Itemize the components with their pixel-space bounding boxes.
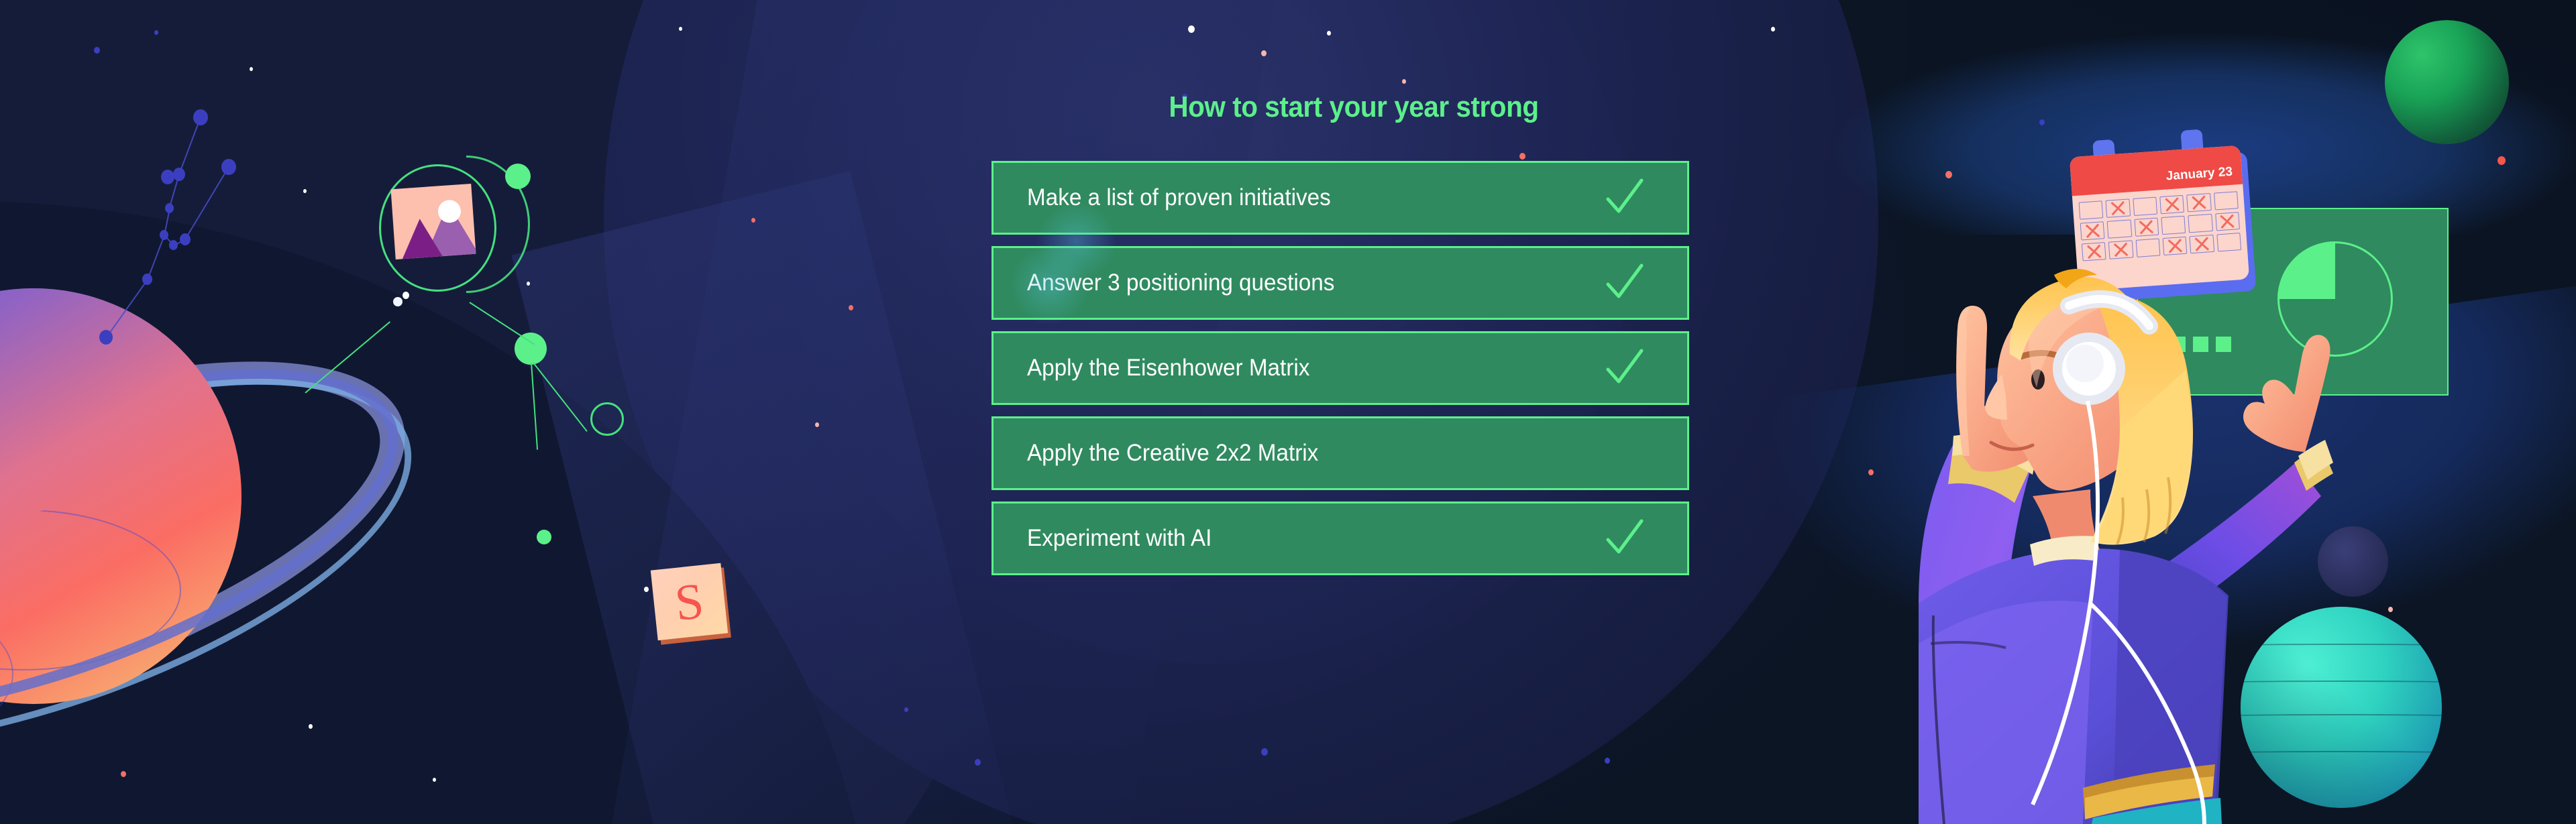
star [815,422,819,427]
star [1402,79,1406,84]
constellation-star [160,230,168,240]
constellation-star [169,240,178,250]
star [1605,758,1610,764]
constellation-star [193,109,208,125]
checklist-item-3[interactable]: Apply the Eisenhower Matrix [991,331,1689,405]
checklist-item-label: Answer 3 positioning questions [1027,270,1334,296]
node-dot-right [515,333,547,365]
green-planet [2385,20,2509,144]
checklist-item-label: Apply the Creative 2x2 Matrix [1027,440,1318,467]
checklist: Make a list of proven initiativesAnswer … [991,161,1689,587]
check-icon [1603,261,1646,304]
node-dot-lower [537,530,551,544]
star [527,282,530,286]
checklist-item-2[interactable]: Answer 3 positioning questions [991,246,1689,320]
constellation-star [165,203,174,213]
check-icon [1603,347,1646,390]
node-dot-top [505,164,531,189]
star [975,759,981,766]
star [1771,27,1775,32]
checklist-item-label: Apply the Eisenhower Matrix [1027,355,1309,381]
constellation-star [180,233,191,245]
star [2039,119,2045,125]
star [1188,25,1195,33]
letter-tile-s: S [651,563,728,640]
page-title: How to start your year strong [1051,91,1656,124]
node-ring-small [590,402,624,436]
mountain-photo-icon [390,184,476,259]
character-illustration [1717,174,2334,824]
check-icon [1603,176,1646,219]
star [1519,153,1525,160]
star [1261,50,1267,56]
star [1261,748,1268,756]
star [644,587,649,592]
star [679,27,682,31]
star [751,218,755,223]
node-dot-white [393,297,402,306]
checklist-item-label: Experiment with AI [1027,525,1212,552]
checklist-item-1[interactable]: Make a list of proven initiatives [991,161,1689,235]
star [433,778,436,782]
star [94,47,100,54]
star [402,292,409,299]
constellation-star [99,330,113,345]
star [303,189,307,193]
checklist-item-label: Make a list of proven initiatives [1027,184,1331,211]
constellation-star [161,170,174,184]
star [1327,31,1331,36]
constellation-star [142,274,152,285]
star [250,67,253,71]
check-icon [1603,517,1646,560]
star [849,305,853,310]
star [154,30,158,35]
star [121,771,126,777]
constellation-star [221,159,236,175]
letter-tile-glyph: S [673,575,706,628]
checklist-item-5[interactable]: Experiment with AI [991,502,1689,575]
constellation-star [173,168,185,181]
star [904,707,908,712]
star [2498,156,2506,165]
illustration-canvas: S How to start your year strong Make a l… [0,0,2576,824]
saturn-planet [0,288,402,758]
checklist-item-4[interactable]: Apply the Creative 2x2 Matrix [991,416,1689,490]
star [2388,607,2393,612]
